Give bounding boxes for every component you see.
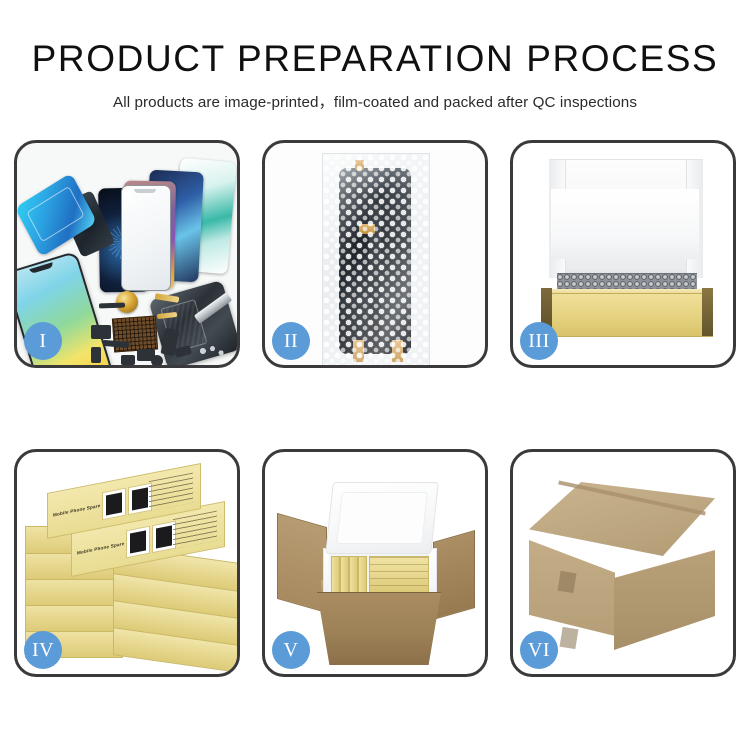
retail-box-edge [349,556,358,598]
carton-tape [560,627,579,649]
step-card-2: II [262,140,488,368]
retail-box-edge [331,556,340,598]
foam-box-contents [329,554,429,598]
step-card-6: VI [510,449,736,677]
plastic-sheen [323,154,429,365]
flex-cable [103,340,129,348]
step-badge-3: III [520,322,558,360]
screen-protector [121,185,171,291]
small-part [121,355,135,365]
step-badge-5: V [272,631,310,669]
carton-right-face [614,550,715,650]
step-badge-1: I [24,322,62,360]
flex-cable [99,303,125,309]
carton-flap-right [433,530,475,620]
page-subtitle: All products are image-printed，film-coat… [0,79,750,112]
step-card-1: I [14,140,240,368]
carton-tape [558,571,577,593]
retail-box-edge [340,556,349,598]
stacked-box-edge [25,578,123,606]
step-badge-4: IV [24,631,62,669]
foam-box-lid [325,482,439,554]
step-badge-6: VI [520,631,558,669]
process-steps-grid: I II III [14,140,736,677]
speaker-part [151,355,163,365]
retail-box-edge [358,556,367,598]
step-badge-2: II [272,322,310,360]
step-card-4: Mobile Phone Spare Parts Mobile Phone Sp… [14,449,240,677]
small-part [91,325,111,339]
small-part [91,347,101,363]
foam-sheet [551,189,699,259]
lid-spec-text [173,511,217,550]
step-card-5: V [262,449,488,677]
retail-box-group [369,556,429,598]
screws [199,345,225,357]
carton-body [317,592,441,665]
kraft-box-tray [541,293,713,337]
lid-window [126,526,150,559]
page-title: PRODUCT PREPARATION PROCESS [0,0,750,79]
lid-spec-text [149,473,193,512]
bubble-wrap-bag [322,153,430,365]
infographic-header: PRODUCT PREPARATION PROCESS All products… [0,0,750,112]
lid-window [102,488,126,521]
step-card-3: III [510,140,736,368]
stacked-box-edge [25,604,123,632]
